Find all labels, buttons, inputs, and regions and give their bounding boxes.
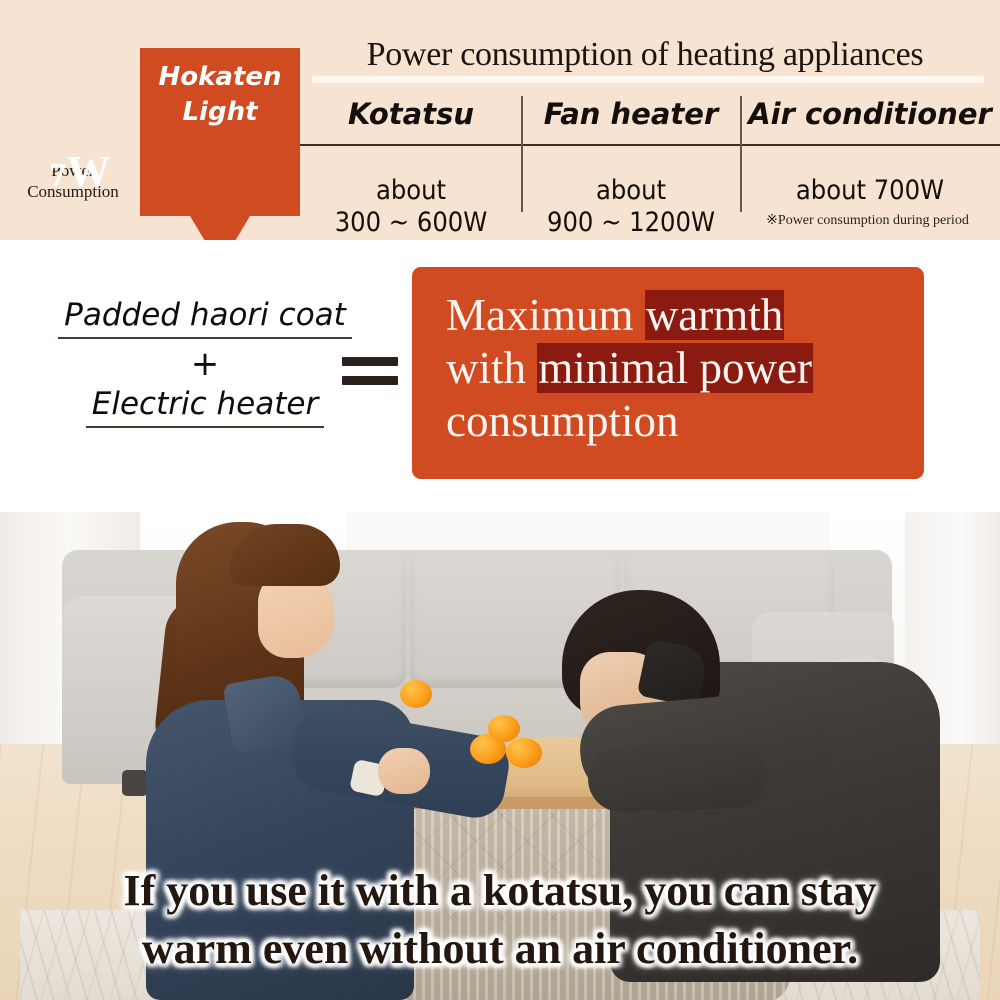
column-value-kotatsu: about 300 ~ 600W <box>305 175 517 239</box>
equation-section: Padded haori coat + Electric heater Maxi… <box>0 240 1000 512</box>
column-divider-1 <box>521 96 523 212</box>
headline-text: Maximum warmthwith minimal powerconsumpt… <box>446 289 924 448</box>
column-value-kotatsu-line1: about <box>305 175 517 207</box>
column-value-air-conditioner: about 700W <box>742 175 998 207</box>
product-formula: Padded haori coat + Electric heater <box>30 298 380 428</box>
comparison-column-air-conditioner: Air conditioner about 700W <box>742 100 998 207</box>
orange-on-table-2 <box>506 738 542 768</box>
badge-product-name-line1: Hokaten <box>140 60 300 95</box>
infographic-root: Power Consumption Power consumption of h… <box>0 0 1000 1000</box>
equals-bar-bottom <box>342 376 398 385</box>
column-value-fan-heater-line2: 900 ~ 1200W <box>524 207 738 239</box>
power-consumption-footnote: ※Power consumption during period <box>740 212 995 229</box>
photo-caption: If you use it with a kotatsu, you can st… <box>0 862 1000 978</box>
headline-seg-3: with <box>446 343 537 393</box>
column-value-kotatsu-line2: 300 ~ 600W <box>305 207 517 239</box>
column-header-air-conditioner: Air conditioner <box>742 100 998 129</box>
man-arm-lower <box>587 741 769 813</box>
comparison-table-title: Power consumption of heating appliances <box>300 38 990 72</box>
column-value-fan-heater-line1: about <box>524 175 738 207</box>
headline-highlight-minimal-power: minimal power <box>537 343 813 393</box>
column-header-fan-heater: Fan heater <box>524 100 738 129</box>
orange-on-table-3 <box>488 715 520 742</box>
badge-power-value: 7W <box>0 150 160 194</box>
headline-seg-5: consumption <box>446 396 679 446</box>
formula-plus-sign: + <box>30 347 380 381</box>
column-header-kotatsu: Kotatsu <box>305 100 517 129</box>
badge-product-name-line2: Light <box>140 95 300 130</box>
column-value-air-conditioner-line1: about 700W <box>742 175 998 207</box>
equals-sign-icon <box>342 357 398 385</box>
badge-power-unit: W <box>67 147 111 196</box>
hokaten-light-badge: Hokaten Light <box>140 48 300 216</box>
photo-caption-line1: If you use it with a kotatsu, you can st… <box>0 862 1000 920</box>
comparison-column-fan-heater: Fan heater about 900 ~ 1200W <box>524 100 738 239</box>
badge-power-number: 7 <box>50 157 67 194</box>
formula-term-haori-coat: Padded haori coat <box>58 298 352 339</box>
column-value-fan-heater: about 900 ~ 1200W <box>524 175 738 239</box>
orange-in-hand <box>400 680 432 708</box>
headline-callout-box: Maximum warmthwith minimal powerconsumpt… <box>412 267 924 479</box>
formula-term-electric-heater: Electric heater <box>86 387 324 428</box>
comparison-column-kotatsu: Kotatsu about 300 ~ 600W <box>305 100 517 239</box>
title-underline-band <box>312 76 984 83</box>
equals-bar-top <box>342 357 398 366</box>
power-comparison-section: Power Consumption Power consumption of h… <box>0 0 1000 240</box>
headline-seg-1: Maximum <box>446 290 645 340</box>
badge-product-name: Hokaten Light <box>140 60 300 130</box>
woman-hand <box>378 748 430 794</box>
sofa-leg-left <box>122 770 148 796</box>
photo-caption-line2: warm even without an air conditioner. <box>0 920 1000 978</box>
headline-highlight-warmth: warmth <box>645 290 784 340</box>
